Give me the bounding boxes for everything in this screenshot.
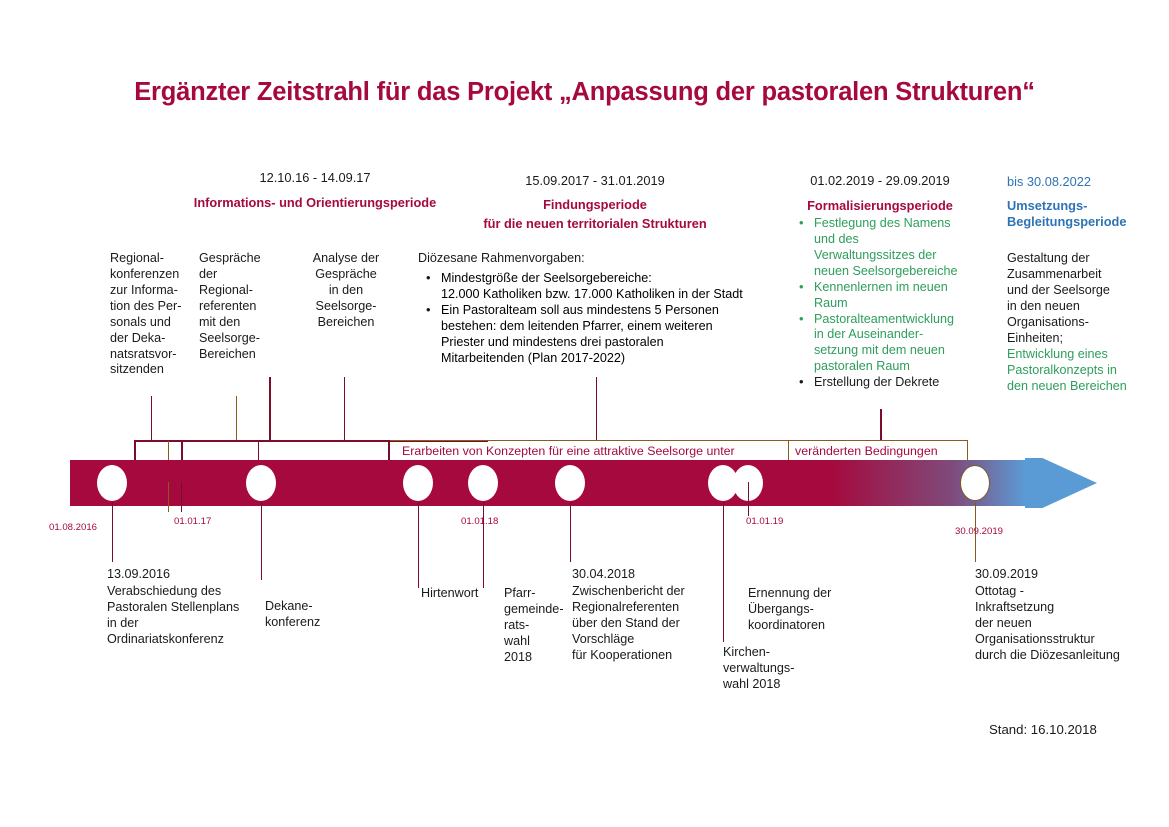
period-name-findungsperiode-line1: Findungsperiode <box>400 197 790 213</box>
bracket-top-middle <box>388 440 968 441</box>
connector-line <box>236 396 237 441</box>
drop-line <box>570 502 571 562</box>
period-name-findungsperiode-line2: für die neuen territorialen Strukturen <box>400 216 790 232</box>
connector-line <box>269 377 271 441</box>
drop-line <box>181 482 182 512</box>
milestone-text-hirtenwort: Hirtenwort <box>421 586 499 602</box>
milestone-date-ottotag: 30.09.2019 <box>975 567 1038 583</box>
drop-line <box>112 502 113 562</box>
findungsperiode-intro: Diözesane Rahmenvorgaben: <box>418 251 798 267</box>
axis-date-label: 01.01.17 <box>174 516 211 527</box>
axis-date-label: 01.01.19 <box>746 516 783 527</box>
column-analyse-gespraeche: Analyse der Gespräche in den Seelsorge- … <box>290 251 402 331</box>
drop-line <box>418 502 419 588</box>
umsetzung-body-black: Gestaltung der Zusammenarbeit und der Se… <box>1007 251 1157 347</box>
column-gespraeche-regionalreferenten: Gespräche der Regional- referenten mit d… <box>199 251 281 362</box>
list-item: Kennenlernen im neuen Raum <box>797 280 987 312</box>
drop-line <box>168 482 169 512</box>
formalisierung-bullet-list: Festlegung des Namens und des Verwaltung… <box>797 216 987 391</box>
period-range-umsetzung: bis 30.08.2022 <box>1007 174 1167 189</box>
milestone-date-verabschiedung: 13.09.2016 <box>107 567 170 583</box>
milestone-text-dekanekonferenz: Dekane- konferenz <box>265 599 345 631</box>
axis-date-label: 30.09.2019 <box>955 526 1003 537</box>
milestone-text-uebergangskoordinatoren: Ernennung der Übergangs- koordinatoren <box>748 586 868 634</box>
drop-line <box>723 502 724 642</box>
milestone-text-verabschiedung: Verabschiedung des Pastoralen Stellenpla… <box>107 584 287 648</box>
milestone-text-ottotag: Ottotag - Inkraftsetzung der neuen Organ… <box>975 584 1160 664</box>
connector-line <box>596 377 597 441</box>
drop-line <box>748 482 749 516</box>
period-name-formalisierung: Formalisierungsperiode <box>790 198 970 214</box>
timeline-diagram: Ergänzter Zeitstrahl für das Projekt „An… <box>0 0 1169 827</box>
list-item: Pastoralteamentwicklung in der Auseinand… <box>797 312 987 376</box>
drop-line <box>261 502 262 580</box>
footer-stand-label: Stand: 16.10.2018 <box>989 722 1097 737</box>
period-range-formalisierung: 01.02.2019 - 29.09.2019 <box>790 173 970 188</box>
list-item: Erstellung der Dekrete <box>797 375 987 391</box>
column-regionalkonferenzen: Regional- konferenzen zur Informa- tion … <box>110 251 198 378</box>
milestone-text-zwischenbericht: Zwischenbericht der Regionalreferenten ü… <box>572 584 722 664</box>
connector-line <box>880 409 882 441</box>
findungsperiode-bullet-list: Mindestgröße der Seelsorgebereiche: 12.0… <box>424 271 804 367</box>
banner-text-right: veränderten Bedingungen <box>795 444 938 458</box>
milestone-node-2[interactable] <box>246 465 276 501</box>
connector-line <box>344 377 345 441</box>
umsetzung-body-green: Entwicklung eines Pastoralkonzepts in de… <box>1007 347 1162 395</box>
milestone-node-1[interactable] <box>97 465 127 501</box>
milestone-node-8[interactable] <box>960 465 990 501</box>
connector-line <box>151 396 152 441</box>
axis-date-label: 01.01.18 <box>461 516 498 527</box>
list-item: Festlegung des Namens und des Verwaltung… <box>797 216 987 280</box>
milestone-node-4[interactable] <box>468 465 498 501</box>
axis-date-label: 01.08.2016 <box>49 522 97 533</box>
milestone-node-3[interactable] <box>403 465 433 501</box>
milestone-text-pfarrgemeinderatswahl: Pfarr- gemeinde- rats- wahl 2018 <box>504 586 566 666</box>
list-item: Mindestgröße der Seelsorgebereiche: 12.0… <box>424 271 804 303</box>
drop-line <box>483 502 484 588</box>
milestone-text-kirchenverwaltungswahl: Kirchen- verwaltungs- wahl 2018 <box>723 645 833 693</box>
period-name-umsetzung: Umsetzungs- Begleitungsperiode <box>1007 198 1157 229</box>
banner-text-left: Erarbeiten von Konzepten für eine attrak… <box>402 444 735 458</box>
list-item: Ein Pastoralteam soll aus mindestens 5 P… <box>424 303 804 367</box>
page-title: Ergänzter Zeitstrahl für das Projekt „An… <box>0 78 1169 107</box>
milestone-date-zwischenbericht: 30.04.2018 <box>572 567 635 583</box>
period-range-findungsperiode: 15.09.2017 - 31.01.2019 <box>400 173 790 188</box>
milestone-node-5[interactable] <box>555 465 585 501</box>
